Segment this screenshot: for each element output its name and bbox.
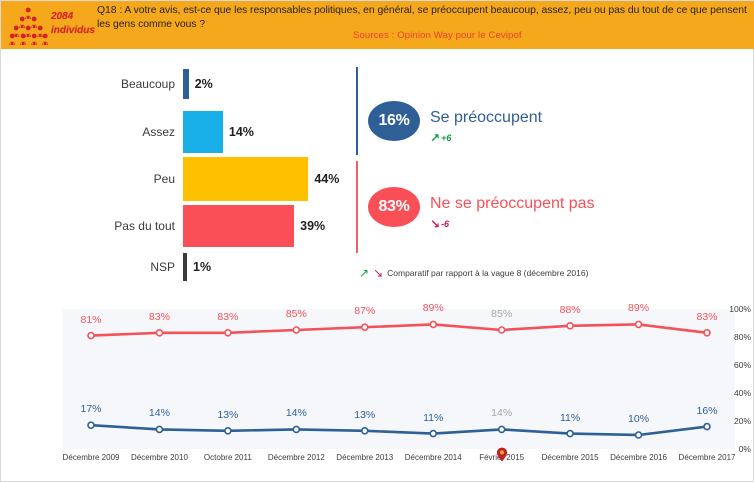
sources-text: Sources : Opinion Way pour le Cevipof — [353, 30, 522, 41]
data-point-marker — [567, 323, 573, 329]
kpi-label: Se préoccupent — [430, 109, 542, 127]
data-point-label: 17% — [80, 403, 101, 415]
data-point-label: 16% — [696, 405, 717, 417]
comparison-legend: ↗ ↘ Comparatif par rapport à la vague 8 … — [359, 267, 588, 279]
bar-shape — [183, 69, 189, 99]
x-axis-tick-label: Décembre 2010 — [131, 453, 188, 462]
x-axis-tick-label: Décembre 2012 — [268, 453, 325, 462]
people-pyramid-icon — [9, 7, 49, 45]
kpi-divider-blue — [356, 67, 358, 155]
bar-value-label: 14% — [229, 125, 254, 139]
data-point-label: 83% — [217, 311, 238, 323]
bar-value-label: 1% — [193, 260, 211, 274]
data-point-marker — [88, 333, 94, 339]
bar-value-label: 39% — [300, 219, 325, 233]
bar-row: Assez14% — [1, 111, 346, 153]
bar-category-label: NSP — [1, 260, 183, 274]
bar-row: Beaucoup2% — [1, 69, 346, 99]
y-axis-tick-label: 40% — [699, 388, 754, 398]
data-point-marker — [225, 428, 231, 434]
bar-chart: Beaucoup2%Assez14%Peu44%Pas du tout39%NS… — [1, 53, 346, 293]
bar-category-label: Assez — [1, 125, 183, 139]
kpi-delta-value: +6 — [441, 133, 451, 143]
data-point-label: 14% — [491, 407, 512, 419]
y-axis-tick-label: 20% — [699, 416, 754, 426]
data-point-marker — [499, 327, 505, 333]
trend-line-chart: 0%20%40%60%80%100%Décembre 2009Décembre … — [1, 297, 754, 483]
legend-text: Comparatif par rapport à la vague 8 (déc… — [387, 268, 588, 278]
x-axis-tick-label: Décembre 2013 — [336, 453, 393, 462]
header-band: 2084 individus Q18 : A votre avis, est-c… — [1, 1, 754, 49]
bar-shape — [183, 253, 187, 281]
bar-shape — [183, 205, 294, 247]
logo-unit: individus — [51, 24, 95, 38]
x-axis-tick-label: Décembre 2016 — [610, 453, 667, 462]
data-point-label: 89% — [423, 302, 444, 314]
data-point-marker — [225, 330, 231, 336]
arrow-down-right-icon: ↘ — [373, 267, 383, 279]
data-point-marker — [293, 327, 299, 333]
data-point-marker — [362, 428, 368, 434]
bar-value-label: 44% — [314, 172, 339, 186]
kpi-circle-value: 83% — [368, 187, 420, 227]
kpi-circle-value: 16% — [368, 101, 420, 141]
kpi-divider-red — [356, 161, 358, 253]
data-point-label: 85% — [286, 308, 307, 320]
data-point-label: 13% — [217, 409, 238, 421]
data-point-label: 14% — [286, 407, 307, 419]
data-point-marker — [636, 432, 642, 438]
bar-row: Pas du tout39% — [1, 205, 346, 247]
bar-row: NSP1% — [1, 253, 346, 281]
bar-category-label: Pas du tout — [1, 219, 183, 233]
x-axis-tick-label: Décembre 2017 — [679, 453, 736, 462]
data-point-label: 11% — [560, 412, 580, 424]
kpi-delta: ↘ -6 — [430, 218, 449, 230]
data-point-label: 11% — [423, 412, 443, 424]
data-point-marker — [293, 426, 299, 432]
plot-area — [63, 309, 735, 449]
data-point-label: 87% — [354, 305, 375, 317]
map-pin-icon — [496, 447, 508, 462]
kpi-delta: ↗ +6 — [430, 132, 451, 144]
data-point-label: 85% — [491, 308, 512, 320]
x-axis-tick-label: Décembre 2014 — [405, 453, 462, 462]
data-point-marker — [567, 431, 573, 437]
data-point-marker — [156, 330, 162, 336]
y-axis-tick-label: 80% — [699, 332, 754, 342]
data-point-label: 14% — [149, 407, 170, 419]
data-point-label: 13% — [354, 409, 375, 421]
arrow-up-right-icon: ↗ — [430, 132, 440, 144]
data-point-marker — [430, 321, 436, 327]
kpi-label: Ne se préoccupent pas — [430, 195, 595, 213]
data-point-marker — [156, 426, 162, 432]
logo: 2084 individus — [7, 3, 93, 47]
trend-line-blue — [91, 425, 707, 435]
data-point-label: 88% — [560, 304, 581, 316]
x-axis-tick-label: Décembre 2015 — [542, 453, 599, 462]
kpi-delta-value: -6 — [441, 219, 449, 229]
bar-category-label: Peu — [1, 172, 183, 186]
data-point-marker — [636, 321, 642, 327]
data-point-marker — [362, 324, 368, 330]
data-point-marker — [88, 422, 94, 428]
data-point-label: 89% — [628, 302, 649, 314]
data-point-label: 83% — [696, 311, 717, 323]
bar-row: Peu44% — [1, 157, 346, 201]
x-axis-tick-label: Octobre 2011 — [204, 453, 252, 462]
logo-count: 2084 — [51, 10, 95, 24]
logo-text: 2084 individus — [51, 10, 95, 38]
data-point-label: 83% — [149, 311, 170, 323]
trend-lines — [63, 309, 735, 449]
data-point-marker — [430, 431, 436, 437]
trend-line-red — [91, 324, 707, 335]
question-text: Q18 : A votre avis, est-ce que les respo… — [97, 4, 747, 31]
bar-category-label: Beaucoup — [1, 77, 183, 91]
bar-shape — [183, 157, 308, 201]
bar-shape — [183, 111, 223, 153]
data-point-label: 10% — [628, 413, 649, 425]
y-axis-tick-label: 60% — [699, 360, 754, 370]
poll-slide: 2084 individus Q18 : A votre avis, est-c… — [0, 0, 754, 482]
bar-value-label: 2% — [195, 77, 213, 91]
data-point-label: 81% — [80, 314, 101, 326]
arrow-up-right-icon: ↗ — [359, 267, 369, 279]
data-point-marker — [499, 426, 505, 432]
x-axis-tick-label: Décembre 2009 — [63, 453, 120, 462]
arrow-down-right-icon: ↘ — [430, 218, 440, 230]
